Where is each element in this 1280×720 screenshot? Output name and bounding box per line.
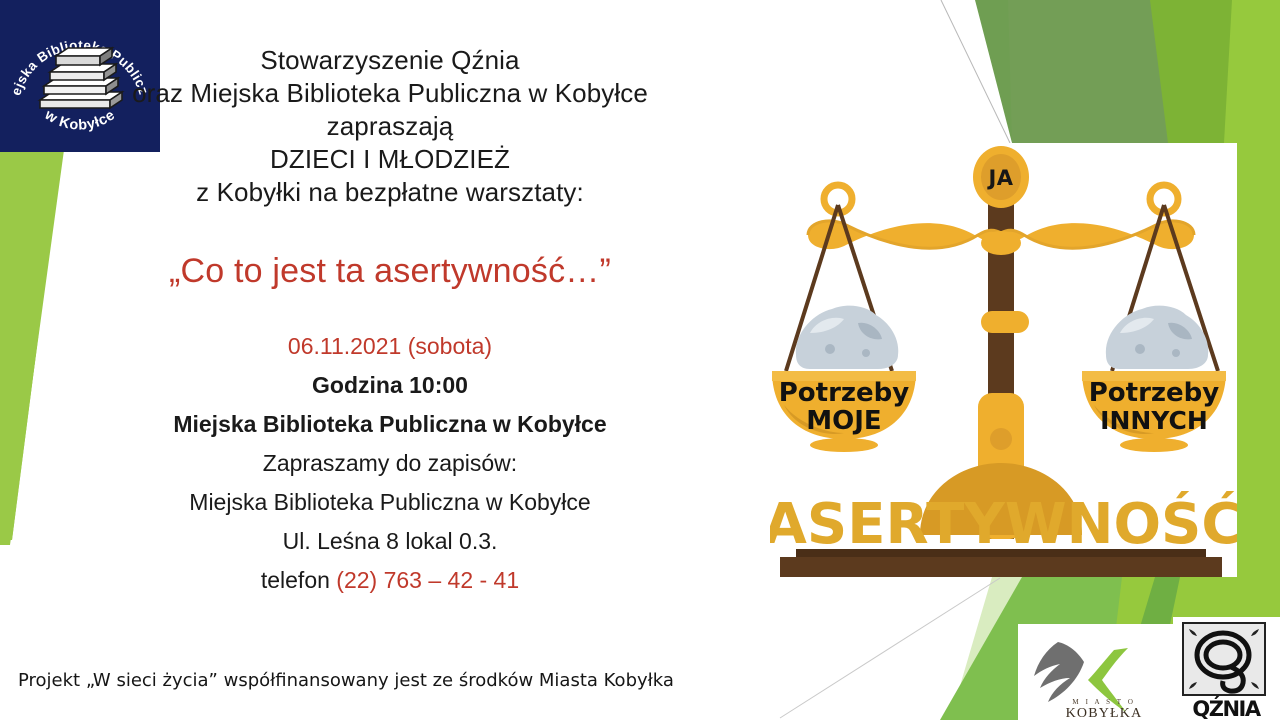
logo-qznia: QŹNIA <box>1173 617 1280 720</box>
scale-collar-top <box>981 231 1021 255</box>
invitation-line-5: z Kobyłki na bezpłatne warsztaty: <box>10 176 770 209</box>
scale-base-top <box>796 549 1206 557</box>
signup-label: Zapraszamy do zapisów: <box>10 444 770 483</box>
kobylka-main-text: KOBYŁKA <box>1066 706 1143 720</box>
top-sage-band <box>975 0 1280 143</box>
top-sage-band-light <box>1008 0 1185 143</box>
qznia-wordmark: QŹNIA <box>1192 696 1261 720</box>
invitation-line-1: Stowarzyszenie Qźnia <box>10 44 770 77</box>
signup-address: Ul. Leśna 8 lokal 0.3. <box>10 522 770 561</box>
phone-number: (22) 763 – 42 - 41 <box>336 567 519 593</box>
project-funding-note: Projekt „W sieci życia” współfinansowany… <box>18 669 838 693</box>
left-pan-label-line1: Potrzeby <box>779 378 910 408</box>
invitation-line-4: DZIECI I MŁODZIEŻ <box>10 143 770 176</box>
left-pan-label-line2: MOJE <box>806 406 881 436</box>
invitation-line-2: oraz Miejska Biblioteka Publiczna w Koby… <box>10 77 770 110</box>
right-pan-label-line1: Potrzeby <box>1089 378 1220 408</box>
poster-text-column: Stowarzyszenie Qźnia oraz Miejska Biblio… <box>10 44 770 600</box>
workshop-title: „Co to jest ta asertywność…” <box>10 249 770 293</box>
logo-miasto-kobylka: M I A S T O KOBYŁKA <box>1018 624 1173 720</box>
right-pan-foot <box>1120 438 1188 452</box>
event-venue: Miejska Biblioteka Publiczna w Kobyłce <box>10 405 770 444</box>
invitation-block: Stowarzyszenie Qźnia oraz Miejska Biblio… <box>10 44 770 209</box>
invitation-line-3: zapraszają <box>10 110 770 143</box>
scale-base <box>780 557 1222 577</box>
poster-canvas: Miejska Biblioteka Publiczna w Kobyłce <box>0 0 1280 720</box>
top-bright-green-band <box>1224 0 1280 143</box>
scale-top-disc: JA <box>973 146 1029 208</box>
top-disc-label: JA <box>986 166 1013 190</box>
balance-scale-illustration: JA <box>770 143 1237 577</box>
event-time: Godzina 10:00 <box>10 366 770 405</box>
phone-row: telefon (22) 763 – 42 - 41 <box>10 561 770 600</box>
right-green-strip <box>1237 143 1280 625</box>
event-details: 06.11.2021 (sobota) Godzina 10:00 Miejsk… <box>10 327 770 600</box>
scale-collar-mid <box>981 311 1029 333</box>
phone-label: telefon <box>261 567 336 593</box>
event-date: 06.11.2021 (sobota) <box>10 327 770 366</box>
top-hairline <box>938 0 1012 143</box>
right-pan-label-line2: INNYCH <box>1100 406 1208 435</box>
kobylka-small-text: M I A S T O <box>1072 698 1135 706</box>
top-mid-green-band <box>1150 0 1280 143</box>
base-word: ASERTYWNOŚĆ <box>770 492 1237 557</box>
left-pan-foot <box>810 438 878 452</box>
illustration-panel: JA <box>770 143 1237 577</box>
signup-place: Miejska Biblioteka Publiczna w Kobyłce <box>10 483 770 522</box>
